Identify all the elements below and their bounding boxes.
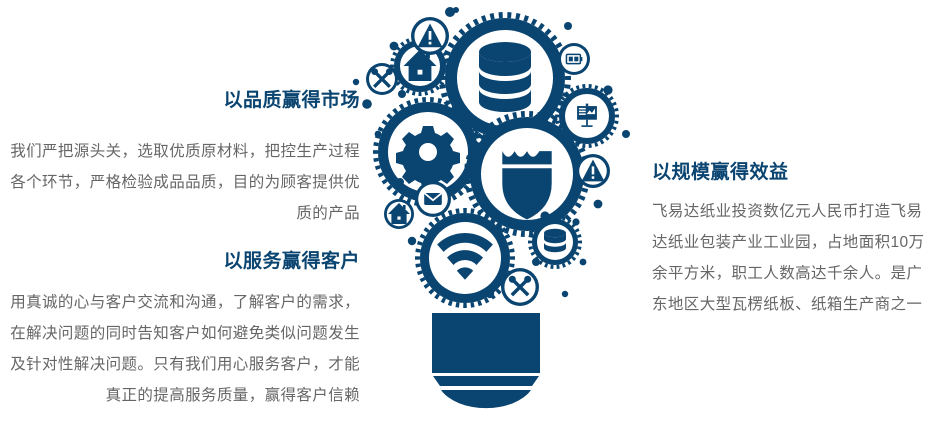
- decorative-dot-18: [353, 79, 359, 85]
- decorative-dot-9: [572, 218, 579, 225]
- quality-heading: 以品质赢得市场: [0, 88, 372, 114]
- page-root: 以品质赢得市场 我们严把源头关，选取优质原材料，把控生产过程各个环节，严格检验成…: [0, 0, 937, 444]
- small-database-icon: [544, 229, 566, 252]
- ring-tools-icon-2: [501, 268, 539, 306]
- lightbulb-gears-graphic: [340, 0, 640, 444]
- decorative-dot-4: [398, 90, 406, 98]
- decorative-dot-10: [540, 211, 549, 220]
- decorative-dot-7: [622, 130, 630, 138]
- decorative-dot-6: [603, 85, 612, 94]
- service-paragraph: 用真诚的心与客户交流和沟通，了解客户的需求，在解决问题的同时告知客户如何避免类似…: [0, 287, 372, 411]
- decorative-dot-17: [453, 7, 459, 13]
- ring-mail-icon: [415, 181, 451, 217]
- ring-warning-triangle-icon-2: [576, 154, 610, 188]
- quality-block: 以品质赢得市场 我们严把源头关，选取优质原材料，把控生产过程各个环节，严格检验成…: [0, 88, 372, 229]
- left-text-column: 以品质赢得市场 我们严把源头关，选取优质原材料，把控生产过程各个环节，严格检验成…: [0, 88, 372, 411]
- decorative-dot-15: [396, 178, 404, 186]
- decorative-dot-16: [486, 290, 494, 298]
- quality-paragraph: 我们严把源头关，选取优质原材料，把控生产过程各个环节，严格检验成品品质，目的为顾…: [0, 136, 372, 229]
- scale-block: 以规模赢得效益 飞易达纸业投资数亿元人民币打造飞易达纸业包装产业工业园，占地面积…: [652, 160, 937, 320]
- decorative-dot-12: [580, 259, 587, 266]
- battery-icon-face: [561, 46, 587, 72]
- service-heading: 以服务赢得客户: [0, 249, 372, 275]
- right-text-column: 以规模赢得效益 飞易达纸业投资数亿元人民币打造飞易达纸业包装产业工业园，占地面积…: [652, 160, 937, 320]
- scale-paragraph: 飞易达纸业投资数亿元人民币打造飞易达纸业包装产业工业园，占地面积10万余平方米，…: [652, 196, 937, 320]
- ring-warning-triangle-icon: [411, 17, 449, 55]
- decorative-dot-1: [390, 42, 399, 51]
- decorative-dot-5: [564, 22, 572, 30]
- decorative-dot-3: [375, 131, 382, 138]
- ring-home-icon-2: [384, 199, 414, 229]
- scale-heading: 以规模赢得效益: [652, 160, 937, 186]
- ring-tools-icon: [366, 63, 398, 95]
- service-block: 以服务赢得客户 用真诚的心与客户交流和沟通，了解客户的需求，在解决问题的同时告知…: [0, 249, 372, 411]
- decorative-dot-14: [408, 237, 416, 245]
- gear-cog-icon: [396, 126, 460, 190]
- bulb-base: [432, 313, 540, 408]
- ring-battery-icon: [558, 43, 590, 75]
- decorative-dot-13: [494, 226, 503, 235]
- decorative-dot-2: [362, 99, 372, 109]
- mail-icon: [424, 193, 442, 205]
- decorative-dot-8: [594, 200, 603, 209]
- decorative-dot-19: [562, 291, 568, 297]
- decorative-dot-11: [532, 258, 540, 266]
